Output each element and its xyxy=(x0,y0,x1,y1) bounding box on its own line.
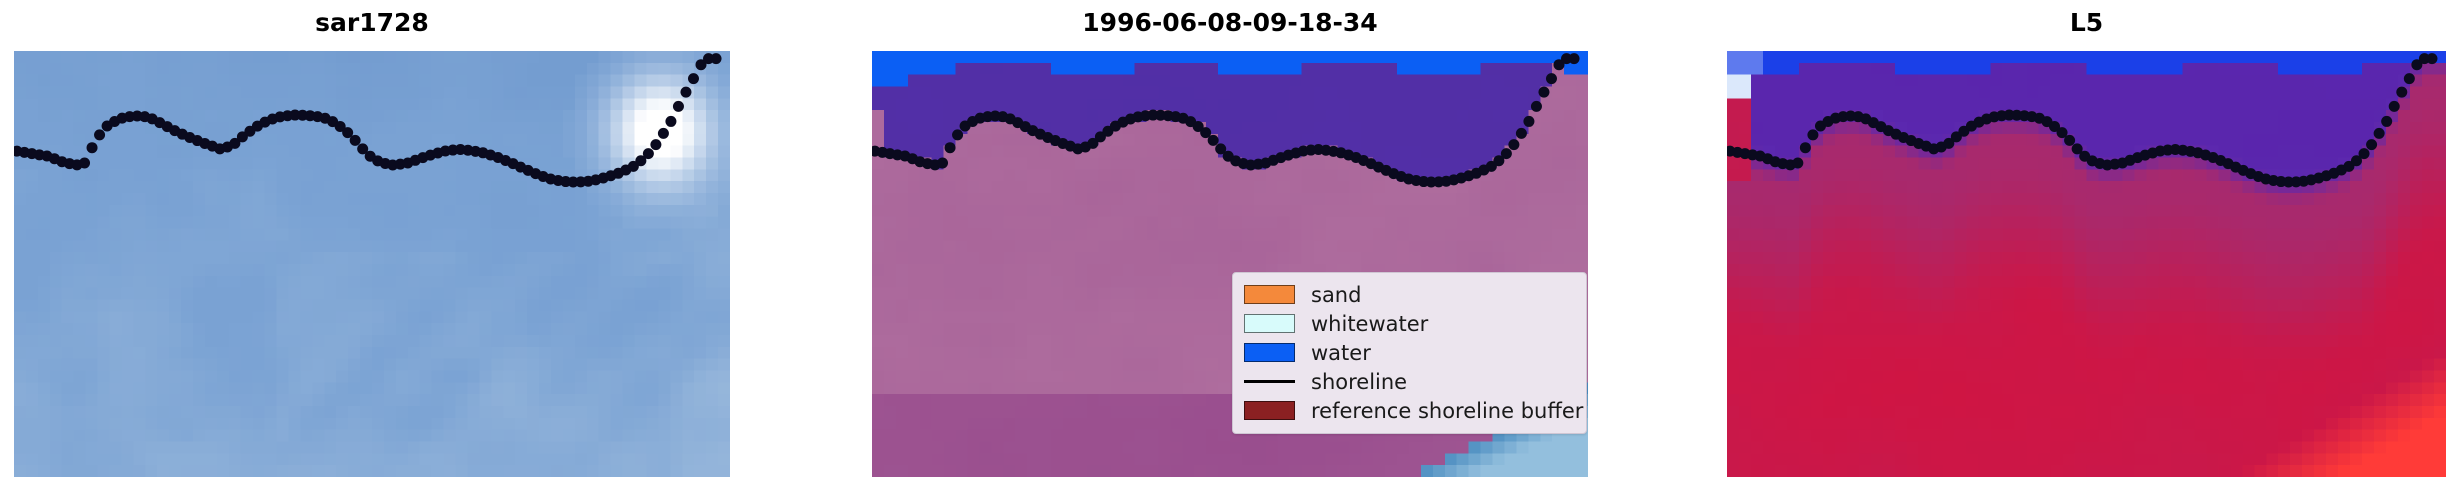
figure-root: sar1728 1996-06-08-09-18-34 L5 xyxy=(0,0,2460,492)
legend-swatch-reference-buffer xyxy=(1244,401,1295,420)
panel-title-timestamp: 1996-06-08-09-18-34 xyxy=(872,8,1588,38)
panel-l5: L5 xyxy=(1727,0,2446,492)
legend-item-whitewater: whitewater xyxy=(1244,309,1576,338)
panel-image-l5[interactable] xyxy=(1727,51,2446,477)
legend-label-sand: sand xyxy=(1311,282,1361,308)
panel-sar1728: sar1728 xyxy=(14,0,730,492)
panel-title-sar1728: sar1728 xyxy=(14,8,730,38)
legend-swatch-shoreline xyxy=(1244,372,1295,391)
panel-image-sar1728[interactable] xyxy=(14,51,730,477)
legend-item-shoreline: shoreline xyxy=(1244,367,1576,396)
legend-item-water: water xyxy=(1244,338,1576,367)
legend-swatch-sand xyxy=(1244,285,1295,304)
legend-item-sand: sand xyxy=(1244,280,1576,309)
panel-title-l5: L5 xyxy=(1727,8,2446,38)
sar-raster xyxy=(14,51,730,477)
legend-box: sand whitewater water shoreline referenc… xyxy=(1232,272,1587,434)
l5-raster xyxy=(1727,51,2446,477)
legend-swatch-whitewater xyxy=(1244,314,1295,333)
legend-label-water: water xyxy=(1311,340,1371,366)
legend-label-shoreline: shoreline xyxy=(1311,369,1407,395)
legend-label-whitewater: whitewater xyxy=(1311,311,1428,337)
legend-label-reference-buffer: reference shoreline buffer xyxy=(1311,398,1583,424)
legend-swatch-water xyxy=(1244,343,1295,362)
legend-item-reference-buffer: reference shoreline buffer xyxy=(1244,396,1576,425)
